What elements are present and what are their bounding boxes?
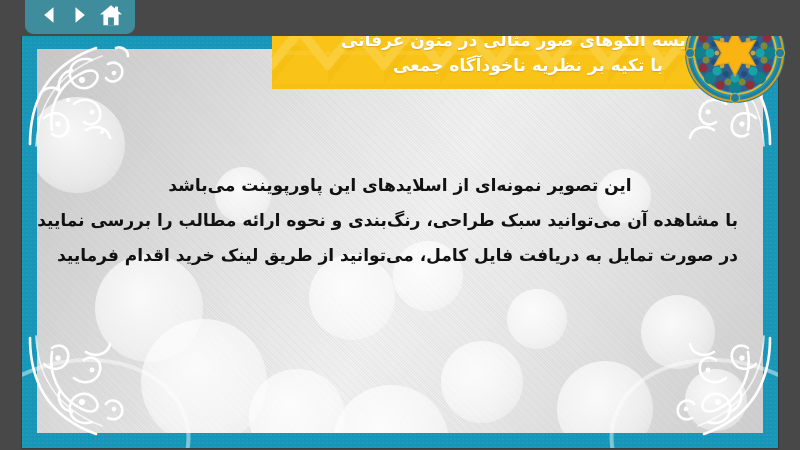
navigation-bar: [0, 0, 800, 36]
home-button[interactable]: [98, 3, 124, 27]
bokeh-circle: [141, 319, 267, 433]
bokeh-circle: [441, 341, 523, 423]
bokeh-circle: [249, 369, 345, 433]
next-slide-button[interactable]: [67, 3, 93, 27]
bokeh-circle: [333, 385, 449, 433]
body-line: این تصویر نمونه‌ای از اسلایدهای این پاور…: [62, 169, 738, 204]
slide-canvas: این تصویر نمونه‌ای از اسلایدهای این پاور…: [22, 34, 778, 448]
triangle-right-icon: [69, 4, 91, 26]
triangle-left-icon: [38, 4, 60, 26]
body-line: در صورت تمایل به دریافت فایل کامل، می‌تو…: [62, 239, 738, 274]
navigation-button-panel: [25, 0, 135, 34]
previous-slide-button[interactable]: [36, 3, 62, 27]
slide-viewer: این تصویر نمونه‌ای از اسلایدهای این پاور…: [0, 0, 800, 450]
body-line: با مشاهده آن می‌توانید سبک طراحی، رنگ‌بن…: [62, 204, 738, 239]
home-icon: [99, 4, 123, 27]
bokeh-circle: [557, 361, 653, 433]
bokeh-circle: [685, 369, 747, 431]
slide-body-text: این تصویر نمونه‌ای از اسلایدهای این پاور…: [62, 169, 738, 274]
bokeh-circle: [641, 295, 715, 369]
bokeh-circle: [507, 289, 567, 349]
slide-title-line-2: با تکیه بر نظریه ناخودآگاه جمعی: [313, 54, 689, 79]
